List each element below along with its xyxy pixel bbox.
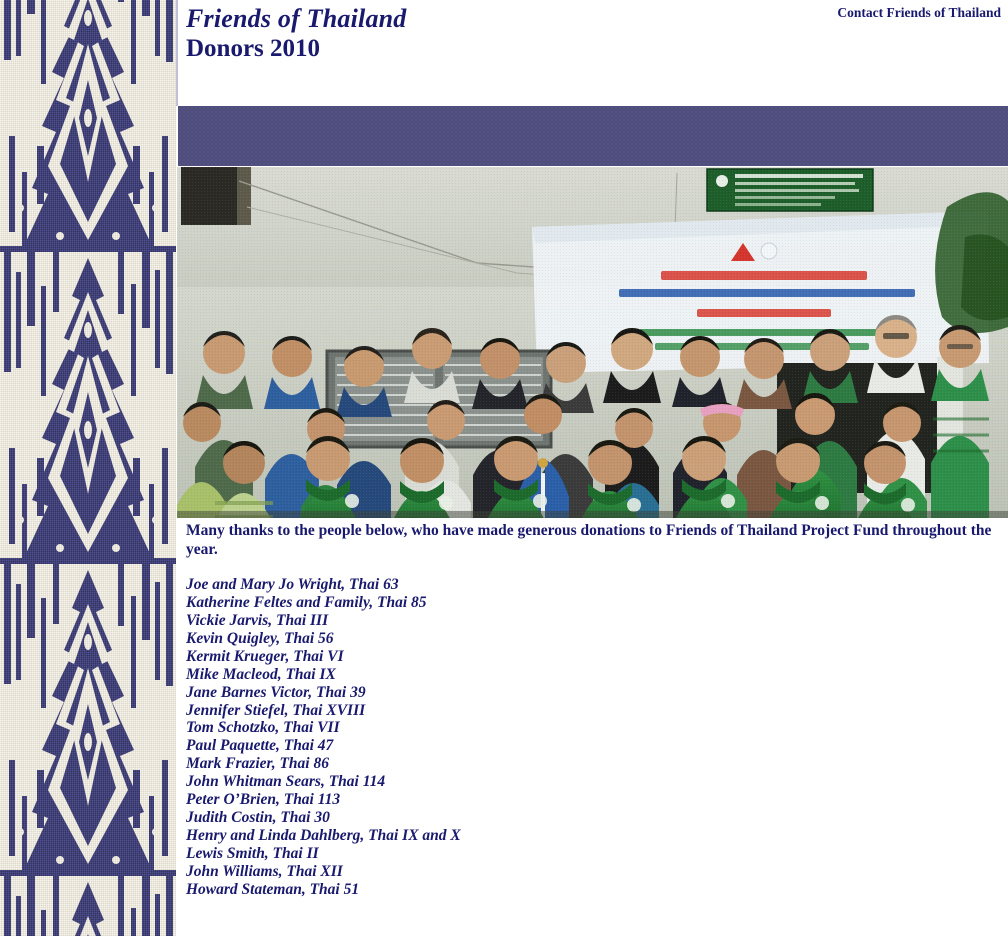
donor-list-item: Henry and Linda Dahlberg, Thai IX and X bbox=[186, 827, 998, 845]
donor-list-item: Kevin Quigley, Thai 56 bbox=[186, 630, 998, 648]
donor-list-item: Jennifer Stiefel, Thai XVIII bbox=[186, 702, 998, 720]
donor-list-item: Vickie Jarvis, Thai III bbox=[186, 612, 998, 630]
donor-list-item: Lewis Smith, Thai II bbox=[186, 845, 998, 863]
donor-list-item: Kermit Krueger, Thai VI bbox=[186, 648, 998, 666]
group-photo bbox=[177, 167, 1008, 518]
page-title: Donors 2010 bbox=[186, 34, 407, 64]
intro-paragraph: Many thanks to the people below, who hav… bbox=[186, 522, 998, 559]
donor-list-item: Tom Schotzko, Thai VII bbox=[186, 719, 998, 737]
page-header: Friends of Thailand Donors 2010 Contact … bbox=[176, 0, 1008, 106]
donor-list-item: Peter O’Brien, Thai 113 bbox=[186, 791, 998, 809]
navy-banner-bar bbox=[178, 106, 1008, 166]
contact-link[interactable]: Contact Friends of Thailand bbox=[837, 5, 1001, 21]
title-block: Friends of Thailand Donors 2010 bbox=[186, 4, 407, 64]
donor-list: Joe and Mary Jo Wright, Thai 63Katherine… bbox=[186, 576, 998, 898]
donor-list-item: John Whitman Sears, Thai 114 bbox=[186, 773, 998, 791]
donor-list-item: Mark Frazier, Thai 86 bbox=[186, 755, 998, 773]
site-title: Friends of Thailand bbox=[186, 4, 407, 34]
textile-sidebar bbox=[0, 0, 176, 936]
donor-list-item: Judith Costin, Thai 30 bbox=[186, 809, 998, 827]
donor-list-item: Katherine Feltes and Family, Thai 85 bbox=[186, 594, 998, 612]
content-column: Friends of Thailand Donors 2010 Contact … bbox=[176, 0, 1008, 936]
donor-list-item: Howard Stateman, Thai 51 bbox=[186, 881, 998, 899]
donor-list-item: Jane Barnes Victor, Thai 39 bbox=[186, 684, 998, 702]
donor-list-item: John Williams, Thai XII bbox=[186, 863, 998, 881]
donors-page: Friends of Thailand Donors 2010 Contact … bbox=[0, 0, 1008, 936]
donor-list-item: Joe and Mary Jo Wright, Thai 63 bbox=[186, 576, 998, 594]
donor-list-item: Mike Macleod, Thai IX bbox=[186, 666, 998, 684]
donor-list-item: Paul Paquette, Thai 47 bbox=[186, 737, 998, 755]
body-text: Many thanks to the people below, who hav… bbox=[186, 522, 998, 899]
